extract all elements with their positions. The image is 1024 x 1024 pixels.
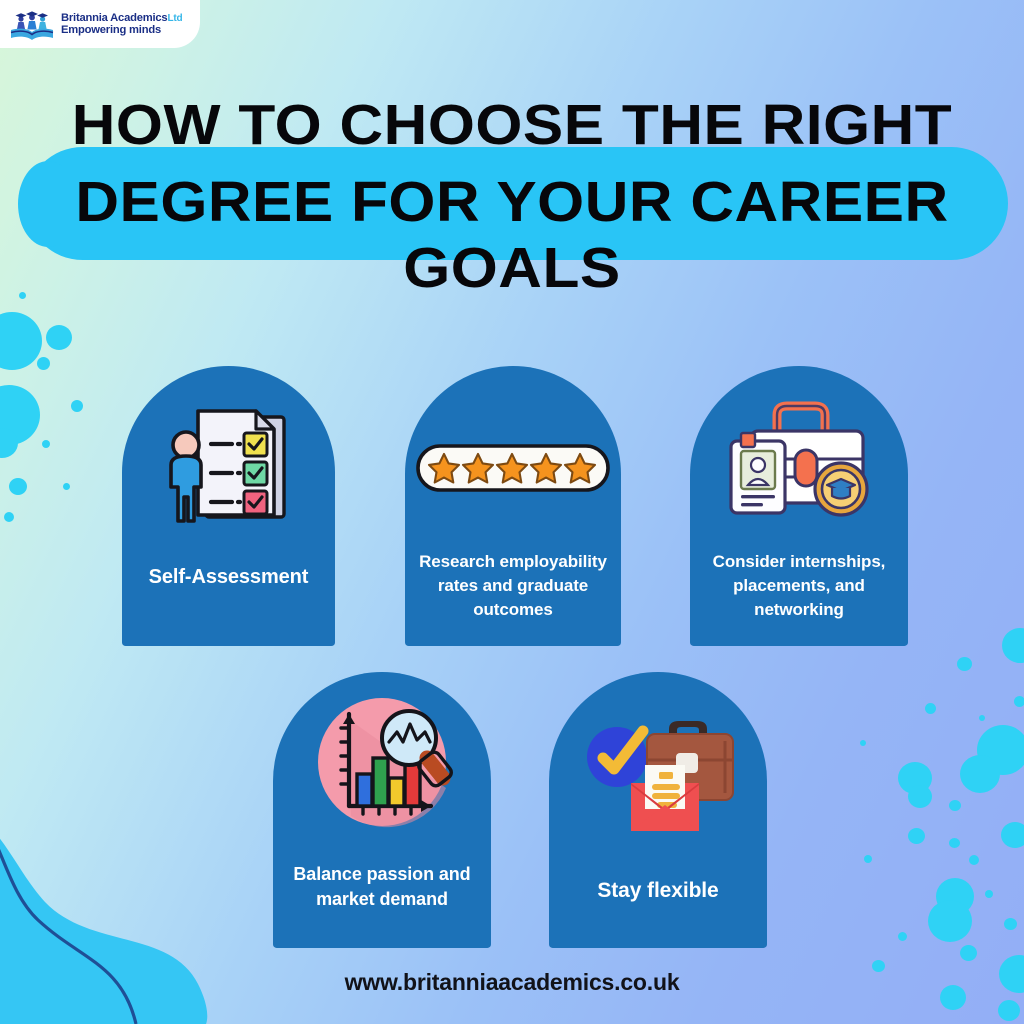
infographic-canvas: Britannia AcademicsLtd Empowering minds …: [0, 0, 1024, 1024]
card-label: Consider internships, placements, and ne…: [703, 550, 895, 646]
splatter-dot: [46, 325, 72, 350]
splatter-dot: [0, 312, 42, 370]
person-checklist-icon: [122, 366, 335, 565]
title-line-2: DEGREE FOR YOUR CAREER GOALS: [0, 169, 1024, 301]
splatter-dot: [1004, 918, 1017, 930]
splatter-dot: [63, 483, 70, 490]
card-internships[interactable]: Consider internships, placements, and ne…: [690, 366, 908, 646]
brand-logo-badge[interactable]: Britannia AcademicsLtd Empowering minds: [0, 0, 200, 48]
splatter-dot: [960, 945, 977, 961]
splatter-dot: [864, 855, 872, 863]
splatter-dot: [928, 900, 972, 942]
card-label: Balance passion and market demand: [286, 862, 478, 948]
card-stay-flexible[interactable]: Stay flexible: [549, 672, 767, 948]
brand-name: Britannia Academics: [61, 12, 167, 24]
briefcase-envelope-check-icon: [549, 672, 767, 878]
card-label: Research employability rates and graduat…: [418, 550, 608, 646]
title-line-1: HOW TO CHOOSE THE RIGHT: [0, 92, 1024, 158]
page-title: HOW TO CHOOSE THE RIGHT DEGREE FOR YOUR …: [0, 92, 1024, 301]
splatter-dot: [1002, 628, 1024, 663]
splatter-dot: [979, 715, 985, 721]
splatter-dot: [985, 890, 993, 898]
graduation-book-logo-icon: [9, 6, 55, 42]
splatter-dot: [71, 400, 83, 412]
splatter-dot: [949, 800, 961, 811]
splatter-dot: [908, 828, 925, 844]
card-label: Stay flexible: [562, 878, 754, 948]
card-label: Self-Assessment: [135, 565, 322, 646]
splatter-dot: [898, 932, 907, 941]
splatter-dot: [998, 1000, 1020, 1021]
splatter-dot: [949, 838, 960, 848]
card-research-employability[interactable]: Research employability rates and graduat…: [405, 366, 621, 646]
splatter-dot: [1001, 822, 1024, 848]
splatter-dot: [908, 785, 932, 808]
splatter-dot: [37, 357, 50, 370]
card-self-assessment[interactable]: Self-Assessment: [122, 366, 335, 646]
splatter-dot: [969, 855, 979, 865]
briefcase-id-badge-icon: [690, 366, 908, 550]
five-star-rating-icon: [405, 366, 621, 550]
splatter-dot: [4, 512, 14, 522]
footer-website-url[interactable]: www.britanniaacademics.co.uk: [0, 969, 1024, 996]
brand-tagline: Empowering minds: [61, 24, 182, 36]
card-balance-passion[interactable]: Balance passion and market demand: [273, 672, 491, 948]
splatter-dot: [960, 755, 1000, 793]
brand-suffix: Ltd: [167, 13, 182, 24]
splatter-dot: [925, 703, 936, 714]
splatter-dot: [860, 740, 866, 746]
splatter-dot: [42, 440, 50, 448]
splatter-dot: [1014, 696, 1024, 707]
splatter-dot: [957, 657, 972, 671]
splatter-dot: [9, 478, 27, 495]
bar-chart-magnifier-icon: [273, 672, 491, 862]
